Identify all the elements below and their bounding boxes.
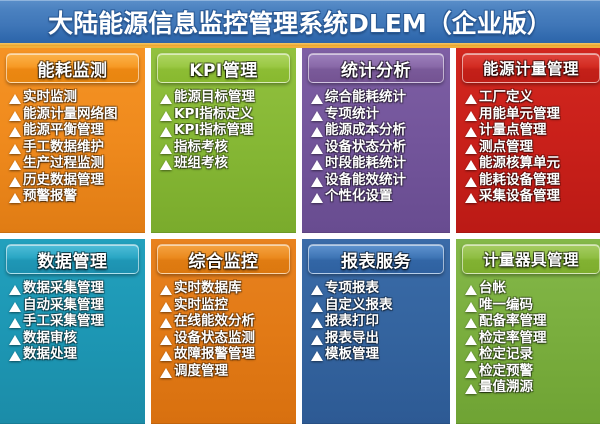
triangle-bullet-icon bbox=[160, 351, 172, 361]
list-item-label: 工厂定义 bbox=[479, 89, 533, 106]
module-card-title: 能源计量管理 bbox=[483, 57, 579, 79]
module-card-title: 统计分析 bbox=[341, 56, 411, 81]
list-item-label: 测点管理 bbox=[479, 139, 533, 156]
list-item[interactable]: 能耗设备管理 bbox=[465, 172, 600, 189]
module-card-header[interactable]: 统计分析 bbox=[308, 53, 444, 83]
triangle-bullet-icon bbox=[465, 144, 477, 154]
triangle-bullet-icon bbox=[160, 144, 172, 154]
list-item[interactable]: 报表导出 bbox=[311, 330, 447, 347]
list-item[interactable]: 检定预警 bbox=[465, 363, 600, 380]
module-item-list: 实时数据库 实时监控 在线能效分析 设备状态监测 故障报警管理 调度管理 bbox=[154, 277, 293, 379]
triangle-bullet-icon bbox=[160, 127, 172, 137]
list-item[interactable]: KPI指标管理 bbox=[160, 122, 293, 139]
list-item[interactable]: 预警报警 bbox=[9, 188, 142, 205]
triangle-bullet-icon bbox=[9, 285, 21, 295]
list-item-label: 计量点管理 bbox=[479, 122, 547, 139]
triangle-bullet-icon bbox=[311, 160, 323, 170]
list-item-label: KPI指标管理 bbox=[174, 122, 253, 139]
module-item-list: 能源目标管理 KPI指标定义 KPI指标管理 指标考核 班组考核 bbox=[154, 86, 293, 172]
triangle-bullet-icon bbox=[465, 94, 477, 104]
list-item[interactable]: 专项报表 bbox=[311, 280, 447, 297]
triangle-bullet-icon bbox=[9, 335, 21, 345]
triangle-bullet-icon bbox=[311, 285, 323, 295]
triangle-bullet-icon bbox=[465, 177, 477, 187]
list-item-label: 配备率管理 bbox=[479, 313, 547, 330]
triangle-bullet-icon bbox=[465, 302, 477, 312]
module-item-list: 数据采集管理 自动采集管理 手工采集管理 数据审核 数据处理 bbox=[3, 277, 142, 363]
list-item[interactable]: 采集设备管理 bbox=[465, 188, 600, 205]
triangle-bullet-icon bbox=[9, 302, 21, 312]
triangle-bullet-icon bbox=[311, 177, 323, 187]
module-card-header[interactable]: KPI管理 bbox=[157, 53, 290, 83]
module-card-measuring-instrument-management[interactable]: 计量器具管理 台帐 唯一编码 配备率管理 检定率管理 检定记录 检定预警 量值溯… bbox=[456, 239, 600, 424]
triangle-bullet-icon bbox=[160, 285, 172, 295]
list-item-label: 个性化设置 bbox=[325, 188, 393, 205]
module-card-statistical-analysis[interactable]: 统计分析 综合能耗统计 专项统计 能源成本分析 设备状态分析 时段能耗统计 设备… bbox=[302, 48, 450, 233]
list-item[interactable]: 量值溯源 bbox=[465, 379, 600, 396]
triangle-bullet-icon bbox=[160, 94, 172, 104]
triangle-bullet-icon bbox=[465, 127, 477, 137]
list-item-label: 专项报表 bbox=[325, 280, 379, 297]
triangle-bullet-icon bbox=[311, 193, 323, 203]
triangle-bullet-icon bbox=[9, 127, 21, 137]
list-item[interactable]: 数据审核 bbox=[9, 330, 142, 347]
triangle-bullet-icon bbox=[465, 160, 477, 170]
module-card-header[interactable]: 综合监控 bbox=[157, 244, 290, 274]
list-item-label: 报表打印 bbox=[325, 313, 379, 330]
triangle-bullet-icon bbox=[9, 144, 21, 154]
triangle-bullet-icon bbox=[311, 127, 323, 137]
module-card-header[interactable]: 能源计量管理 bbox=[462, 53, 600, 83]
list-item-label: 综合能耗统计 bbox=[325, 89, 406, 106]
list-item-label: 调度管理 bbox=[174, 363, 228, 380]
list-item[interactable]: 工厂定义 bbox=[465, 89, 600, 106]
list-item[interactable]: 模板管理 bbox=[311, 346, 447, 363]
module-card-energy-monitoring[interactable]: 能耗监测 实时监测 能源计量网络图 能源平衡管理 手工数据维护 生产过程监测 历… bbox=[0, 48, 145, 233]
list-item[interactable]: 测点管理 bbox=[465, 139, 600, 156]
list-item[interactable]: 检定记录 bbox=[465, 346, 600, 363]
module-card-report-service[interactable]: 报表服务 专项报表 自定义报表 报表打印 报表导出 模板管理 bbox=[302, 239, 450, 424]
list-item-label: 量值溯源 bbox=[479, 379, 533, 396]
list-item-label: 能耗设备管理 bbox=[479, 172, 560, 189]
list-item[interactable]: 故障报警管理 bbox=[160, 346, 293, 363]
list-item-label: 班组考核 bbox=[174, 155, 228, 172]
module-item-list: 工厂定义 用能单元管理 计量点管理 测点管理 能源核算单元 能耗设备管理 采集设… bbox=[459, 86, 600, 205]
list-item-label: 报表导出 bbox=[325, 330, 379, 347]
module-card-kpi-management[interactable]: KPI管理 能源目标管理 KPI指标定义 KPI指标管理 指标考核 班组考核 bbox=[151, 48, 296, 233]
module-card-title: 报表服务 bbox=[341, 247, 411, 272]
module-card-title: 计量器具管理 bbox=[483, 248, 579, 270]
triangle-bullet-icon bbox=[160, 160, 172, 170]
triangle-bullet-icon bbox=[160, 302, 172, 312]
list-item[interactable]: 数据处理 bbox=[9, 346, 142, 363]
list-item[interactable]: 专项统计 bbox=[311, 106, 447, 123]
list-item[interactable]: 综合能耗统计 bbox=[311, 89, 447, 106]
triangle-bullet-icon bbox=[9, 193, 21, 203]
list-item-label: 自动采集管理 bbox=[23, 297, 104, 314]
triangle-bullet-icon bbox=[311, 94, 323, 104]
list-item-label: KPI指标定义 bbox=[174, 106, 253, 123]
module-item-list: 综合能耗统计 专项统计 能源成本分析 设备状态分析 时段能耗统计 设备能效统计 … bbox=[305, 86, 447, 205]
module-card-title: 数据管理 bbox=[38, 247, 108, 272]
list-item[interactable]: 能源目标管理 bbox=[160, 89, 293, 106]
module-card-title: KPI管理 bbox=[189, 56, 257, 81]
list-item[interactable]: KPI指标定义 bbox=[160, 106, 293, 123]
list-item-label: 专项统计 bbox=[325, 106, 379, 123]
list-item[interactable]: 数据采集管理 bbox=[9, 280, 142, 297]
list-item-label: 设备状态监测 bbox=[174, 330, 255, 347]
triangle-bullet-icon bbox=[311, 351, 323, 361]
module-card-data-management[interactable]: 数据管理 数据采集管理 自动采集管理 手工采集管理 数据审核 数据处理 bbox=[0, 239, 145, 424]
list-item-label: 能源目标管理 bbox=[174, 89, 255, 106]
triangle-bullet-icon bbox=[160, 111, 172, 121]
triangle-bullet-icon bbox=[160, 318, 172, 328]
list-item[interactable]: 设备状态分析 bbox=[311, 139, 447, 156]
list-item-label: 在线能效分析 bbox=[174, 313, 255, 330]
triangle-bullet-icon bbox=[311, 302, 323, 312]
list-item[interactable]: 检定率管理 bbox=[465, 330, 600, 347]
list-item-label: 模板管理 bbox=[325, 346, 379, 363]
list-item-label: 数据处理 bbox=[23, 346, 77, 363]
list-item-label: 数据采集管理 bbox=[23, 280, 104, 297]
list-item[interactable]: 生产过程监测 bbox=[9, 155, 142, 172]
list-item[interactable]: 设备能效统计 bbox=[311, 172, 447, 189]
module-card-header[interactable]: 计量器具管理 bbox=[462, 244, 600, 274]
list-item-label: 自定义报表 bbox=[325, 297, 393, 314]
list-item[interactable]: 能源计量网络图 bbox=[9, 106, 142, 123]
list-item-label: 手工采集管理 bbox=[23, 313, 104, 330]
module-card-title: 能耗监测 bbox=[38, 56, 108, 81]
list-item[interactable]: 自动采集管理 bbox=[9, 297, 142, 314]
dlem-dashboard: 大陆能源信息监控管理系统DLEM（企业版） 能耗监测 实时监测 能源计量网络图 … bbox=[0, 0, 600, 424]
list-item[interactable]: 唯一编码 bbox=[465, 297, 600, 314]
module-card-header[interactable]: 报表服务 bbox=[308, 244, 444, 274]
triangle-bullet-icon bbox=[9, 160, 21, 170]
triangle-bullet-icon bbox=[465, 111, 477, 121]
triangle-bullet-icon bbox=[9, 318, 21, 328]
list-item-label: 实时监控 bbox=[174, 297, 228, 314]
module-card-title: 综合监控 bbox=[189, 247, 259, 272]
list-item-label: 检定率管理 bbox=[479, 330, 547, 347]
triangle-bullet-icon bbox=[9, 94, 21, 104]
list-item-label: 采集设备管理 bbox=[479, 188, 560, 205]
list-item[interactable]: 计量点管理 bbox=[465, 122, 600, 139]
list-item-label: 检定预警 bbox=[479, 363, 533, 380]
module-card-header[interactable]: 能耗监测 bbox=[6, 53, 139, 83]
triangle-bullet-icon bbox=[311, 318, 323, 328]
module-grid: 能耗监测 实时监测 能源计量网络图 能源平衡管理 手工数据维护 生产过程监测 历… bbox=[0, 48, 600, 424]
list-item[interactable]: 自定义报表 bbox=[311, 297, 447, 314]
list-item[interactable]: 设备状态监测 bbox=[160, 330, 293, 347]
list-item-label: 实时数据库 bbox=[174, 280, 242, 297]
triangle-bullet-icon bbox=[160, 368, 172, 378]
list-item-label: 指标考核 bbox=[174, 139, 228, 156]
list-item[interactable]: 指标考核 bbox=[160, 139, 293, 156]
page-title: 大陆能源信息监控管理系统DLEM（企业版） bbox=[48, 4, 552, 42]
list-item[interactable]: 能源平衡管理 bbox=[9, 122, 142, 139]
list-item[interactable]: 调度管理 bbox=[160, 363, 293, 380]
app-banner: 大陆能源信息监控管理系统DLEM（企业版） bbox=[0, 0, 600, 48]
module-item-list: 台帐 唯一编码 配备率管理 检定率管理 检定记录 检定预警 量值溯源 bbox=[459, 277, 600, 396]
list-item[interactable]: 实时监控 bbox=[160, 297, 293, 314]
list-item[interactable]: 实时数据库 bbox=[160, 280, 293, 297]
list-item[interactable]: 用能单元管理 bbox=[465, 106, 600, 123]
module-card-energy-metering-management[interactable]: 能源计量管理 工厂定义 用能单元管理 计量点管理 测点管理 能源核算单元 能耗设… bbox=[456, 48, 600, 233]
list-item[interactable]: 在线能效分析 bbox=[160, 313, 293, 330]
module-item-list: 专项报表 自定义报表 报表打印 报表导出 模板管理 bbox=[305, 277, 447, 363]
list-item[interactable]: 配备率管理 bbox=[465, 313, 600, 330]
triangle-bullet-icon bbox=[9, 351, 21, 361]
module-card-integrated-monitoring[interactable]: 综合监控 实时数据库 实时监控 在线能效分析 设备状态监测 故障报警管理 调度管… bbox=[151, 239, 296, 424]
triangle-bullet-icon bbox=[311, 144, 323, 154]
list-item[interactable]: 时段能耗统计 bbox=[311, 155, 447, 172]
list-item-label: 实时监测 bbox=[23, 89, 77, 106]
list-item[interactable]: 能源核算单元 bbox=[465, 155, 600, 172]
list-item[interactable]: 历史数据管理 bbox=[9, 172, 142, 189]
list-item-label: 唯一编码 bbox=[479, 297, 533, 314]
list-item-label: 历史数据管理 bbox=[23, 172, 104, 189]
list-item-label: 设备能效统计 bbox=[325, 172, 406, 189]
list-item[interactable]: 手工数据维护 bbox=[9, 139, 142, 156]
triangle-bullet-icon bbox=[160, 335, 172, 345]
triangle-bullet-icon bbox=[465, 384, 477, 394]
triangle-bullet-icon bbox=[9, 177, 21, 187]
list-item-label: 能源成本分析 bbox=[325, 122, 406, 139]
list-item-label: 数据审核 bbox=[23, 330, 77, 347]
triangle-bullet-icon bbox=[465, 368, 477, 378]
list-item-label: 能源计量网络图 bbox=[23, 106, 118, 123]
list-item[interactable]: 手工采集管理 bbox=[9, 313, 142, 330]
list-item-label: 时段能耗统计 bbox=[325, 155, 406, 172]
list-item-label: 预警报警 bbox=[23, 188, 77, 205]
list-item-label: 能源核算单元 bbox=[479, 155, 560, 172]
triangle-bullet-icon bbox=[465, 335, 477, 345]
list-item-label: 能源平衡管理 bbox=[23, 122, 104, 139]
list-item-label: 设备状态分析 bbox=[325, 139, 406, 156]
banner-underline bbox=[0, 43, 600, 46]
module-item-list: 实时监测 能源计量网络图 能源平衡管理 手工数据维护 生产过程监测 历史数据管理… bbox=[3, 86, 142, 205]
list-item-label: 检定记录 bbox=[479, 346, 533, 363]
list-item-label: 故障报警管理 bbox=[174, 346, 255, 363]
list-item[interactable]: 个性化设置 bbox=[311, 188, 447, 205]
list-item-label: 手工数据维护 bbox=[23, 139, 104, 156]
list-item[interactable]: 实时监测 bbox=[9, 89, 142, 106]
list-item[interactable]: 班组考核 bbox=[160, 155, 293, 172]
list-item[interactable]: 报表打印 bbox=[311, 313, 447, 330]
list-item[interactable]: 能源成本分析 bbox=[311, 122, 447, 139]
triangle-bullet-icon bbox=[465, 318, 477, 328]
triangle-bullet-icon bbox=[465, 193, 477, 203]
list-item-label: 生产过程监测 bbox=[23, 155, 104, 172]
list-item[interactable]: 台帐 bbox=[465, 280, 600, 297]
list-item-label: 用能单元管理 bbox=[479, 106, 560, 123]
module-card-header[interactable]: 数据管理 bbox=[6, 244, 139, 274]
triangle-bullet-icon bbox=[311, 335, 323, 345]
list-item-label: 台帐 bbox=[479, 280, 506, 297]
triangle-bullet-icon bbox=[311, 111, 323, 121]
triangle-bullet-icon bbox=[465, 285, 477, 295]
triangle-bullet-icon bbox=[465, 351, 477, 361]
triangle-bullet-icon bbox=[9, 111, 21, 121]
